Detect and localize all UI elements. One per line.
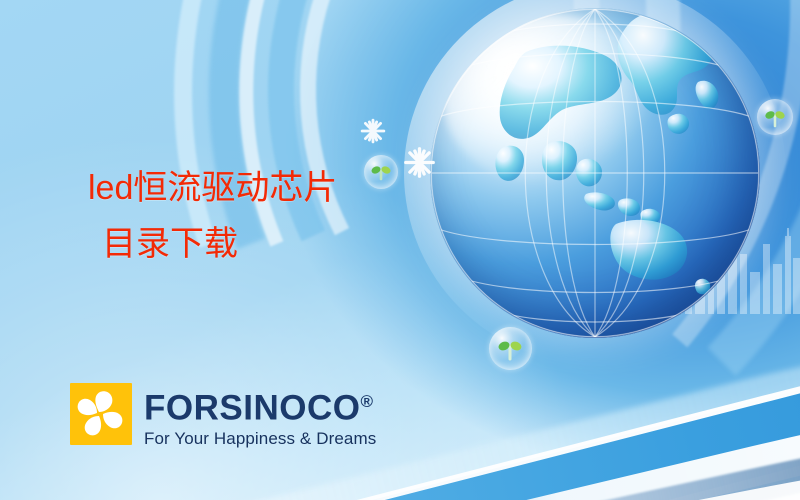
logo-name-text: FORSINOCO — [144, 389, 360, 428]
bubble-2 — [489, 327, 532, 370]
logo-text-block: FORSINOCO® For Your Happiness & Dreams — [144, 383, 376, 449]
sparkle-star-icon-1 — [360, 118, 386, 144]
sprout-icon-2 — [489, 327, 532, 370]
banner-canvas: led恒流驱动芯片 目录下载 FORSINOCO® For Your Happi… — [0, 0, 800, 500]
page-title: led恒流驱动芯片 目录下载 — [88, 166, 337, 266]
logo-tagline: For Your Happiness & Dreams — [144, 429, 376, 449]
registered-mark: ® — [360, 392, 373, 411]
bubble-3 — [757, 99, 793, 135]
pinwheel-flower-icon — [70, 383, 132, 445]
globe-edge — [430, 8, 760, 338]
page-title-line-1: led恒流驱动芯片 — [88, 169, 337, 207]
logo-name: FORSINOCO® — [144, 385, 376, 426]
globe-sphere — [430, 8, 760, 338]
globe-graphic — [430, 8, 760, 338]
bubble-1 — [364, 155, 398, 189]
brand-logo[interactable]: FORSINOCO® For Your Happiness & Dreams — [70, 383, 376, 449]
logo-mark — [70, 383, 132, 445]
sprout-icon-1 — [364, 155, 398, 189]
sparkle-star-icon-2 — [403, 146, 436, 179]
sprout-icon-3 — [757, 99, 793, 135]
page-title-line-2: 目录下载 — [88, 222, 337, 266]
